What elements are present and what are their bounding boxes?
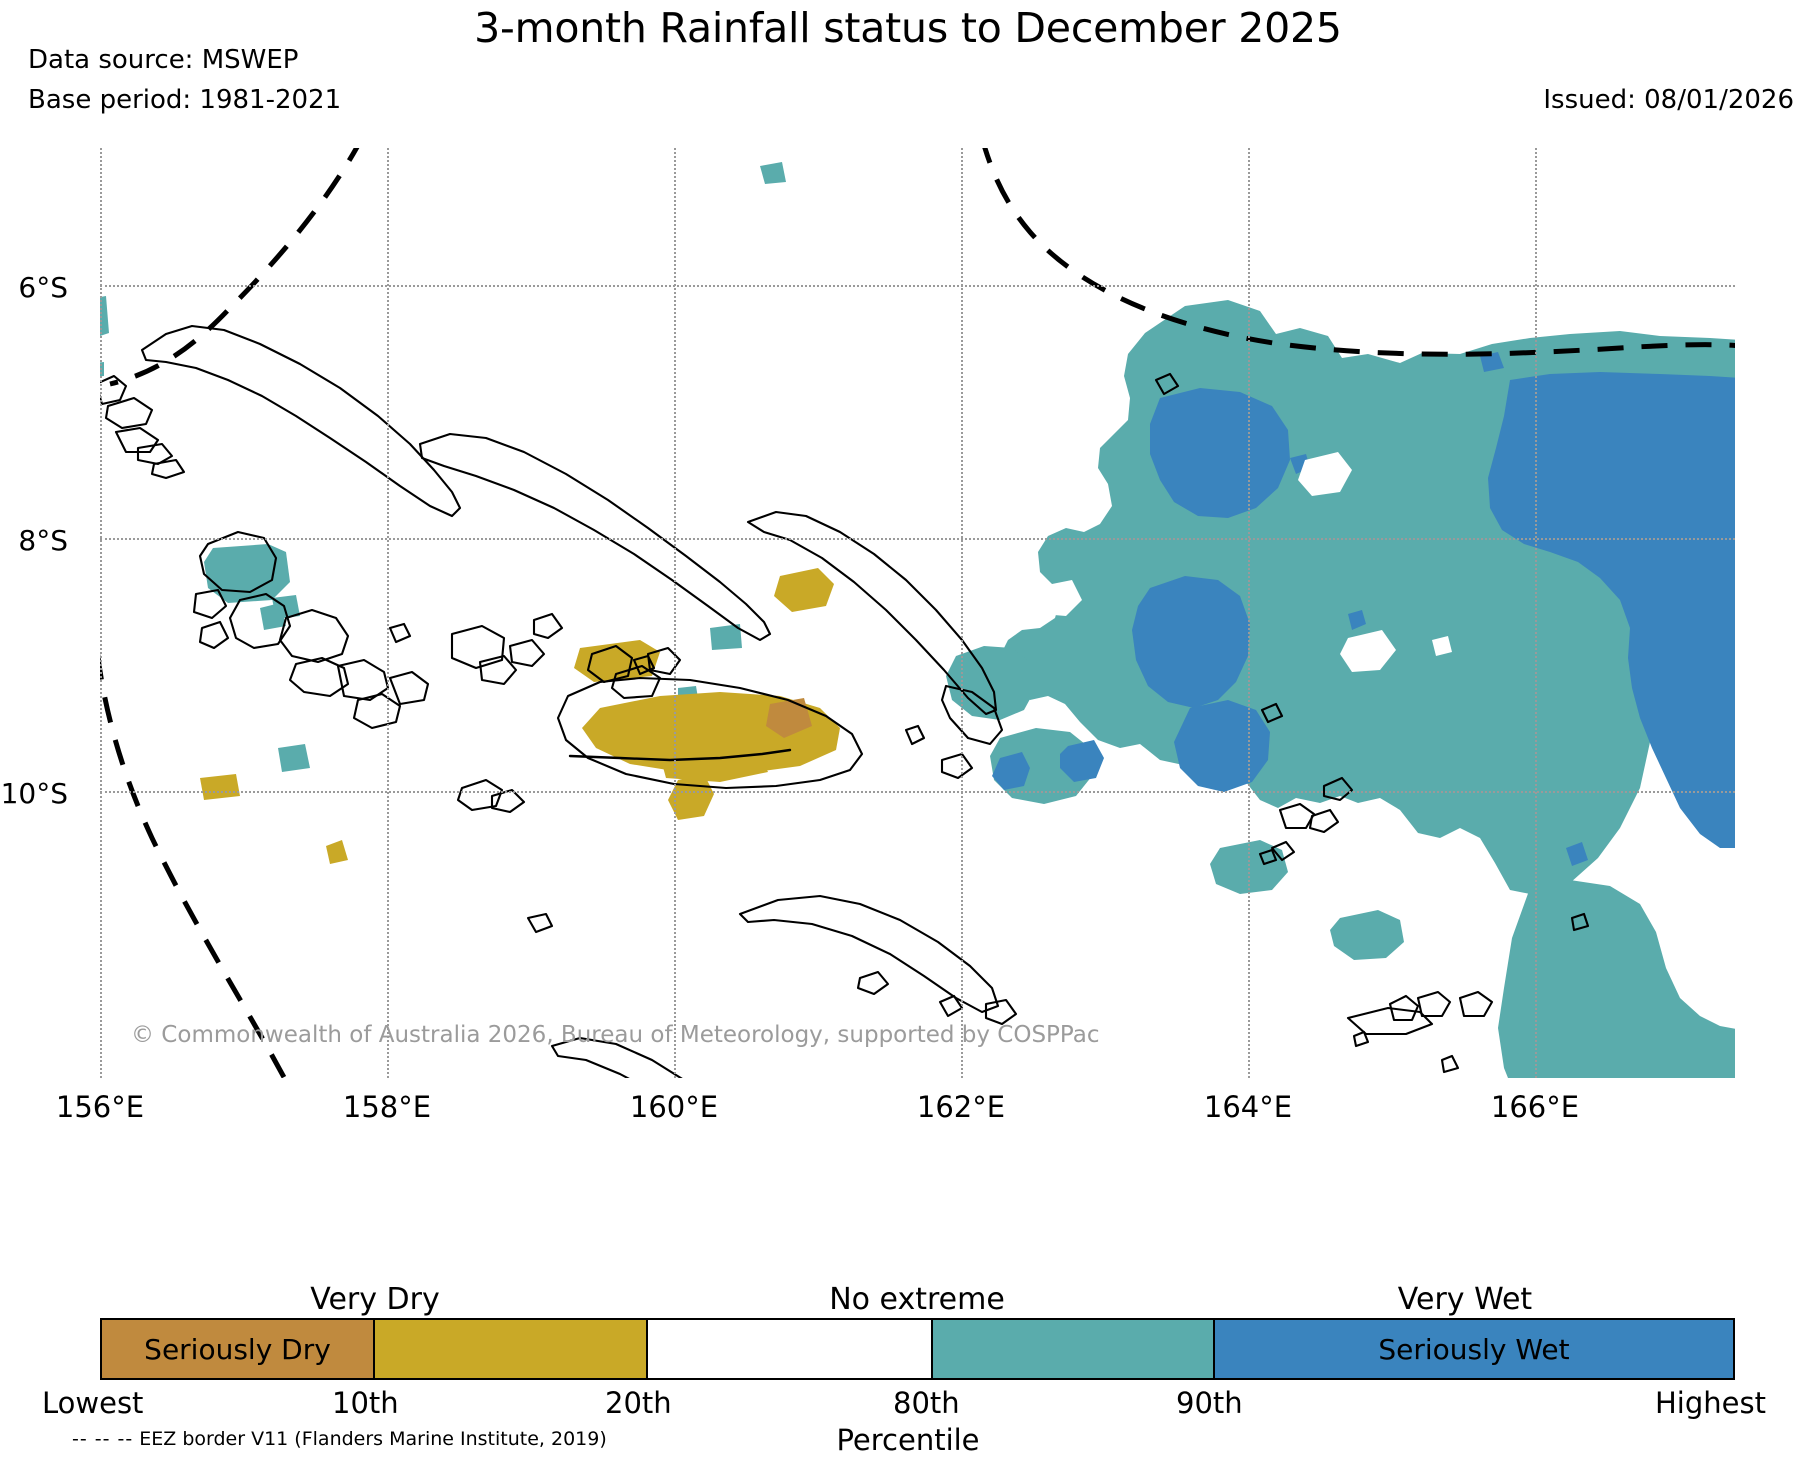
gridline-lon-160 bbox=[674, 148, 676, 1078]
issued-date-label: Issued: 08/01/2026 bbox=[1543, 85, 1794, 115]
colorbar-tick-80th: 80th bbox=[893, 1386, 960, 1420]
data-source-label: Data source: MSWEP bbox=[28, 45, 298, 75]
colorbar-segment-seriously-wet: Seriously Wet bbox=[1213, 1318, 1735, 1380]
colorbar-tick-highest: Highest bbox=[1655, 1386, 1766, 1420]
map-frame bbox=[100, 148, 1735, 1078]
very-wet-regions bbox=[100, 162, 1735, 1078]
lat-tick-10S: 10°S bbox=[1, 777, 68, 810]
gridline-lon-158 bbox=[387, 148, 389, 1078]
legend-category-very-wet: Very Wet bbox=[1398, 1282, 1532, 1317]
gridline-lat-8 bbox=[100, 538, 1735, 540]
legend-category-no-extreme: No extreme bbox=[829, 1282, 1005, 1317]
colorbar-tick-10th: 10th bbox=[332, 1386, 399, 1420]
eez-dash-sample: -- -- -- bbox=[72, 1428, 133, 1450]
lon-tick-164E: 164°E bbox=[1204, 1090, 1292, 1124]
lon-tick-160E: 160°E bbox=[630, 1090, 718, 1124]
gridline-lon-166 bbox=[1535, 148, 1537, 1078]
lat-tick-8S: 8°S bbox=[18, 524, 68, 557]
gridline-lon-162 bbox=[961, 148, 963, 1078]
eez-footnote-text: EEZ border V11 (Flanders Marine Institut… bbox=[133, 1428, 607, 1450]
colorbar-label-seriously-wet: Seriously Wet bbox=[1378, 1333, 1569, 1366]
map-copyright: © Commonwealth of Australia 2026, Bureau… bbox=[131, 1022, 1100, 1048]
colorbar-segment-seriously-dry: Seriously Dry bbox=[100, 1318, 375, 1380]
colorbar-segment-very-dry bbox=[373, 1318, 648, 1380]
colorbar-segment-very-wet bbox=[931, 1318, 1215, 1380]
gridline-lon-164 bbox=[1248, 148, 1250, 1078]
legend-category-very-dry: Very Dry bbox=[310, 1282, 439, 1317]
lat-tick-6S: 6°S bbox=[18, 271, 68, 304]
colorbar-label-seriously-dry: Seriously Dry bbox=[144, 1333, 331, 1366]
colorbar-tick-20th: 20th bbox=[605, 1386, 672, 1420]
lon-tick-166E: 166°E bbox=[1491, 1090, 1579, 1124]
lon-tick-158E: 158°E bbox=[343, 1090, 431, 1124]
percentile-colorbar: Seriously Dry Seriously Wet bbox=[100, 1318, 1735, 1380]
rainfall-map bbox=[100, 148, 1735, 1078]
gridline-lat-10 bbox=[100, 791, 1735, 793]
map-layers bbox=[100, 148, 1735, 1078]
gridline-lon-156 bbox=[100, 148, 102, 1078]
lon-tick-162E: 162°E bbox=[917, 1090, 1005, 1124]
colorbar-tick-90th: 90th bbox=[1176, 1386, 1243, 1420]
gridline-lat-6 bbox=[100, 285, 1735, 287]
eez-footnote: -- -- -- EEZ border V11 (Flanders Marine… bbox=[72, 1428, 607, 1450]
lon-tick-156E: 156°E bbox=[56, 1090, 144, 1124]
colorbar-tick-lowest: Lowest bbox=[42, 1386, 143, 1420]
colorbar-segment-no-extreme bbox=[646, 1318, 933, 1380]
base-period-label: Base period: 1981-2021 bbox=[28, 85, 341, 115]
